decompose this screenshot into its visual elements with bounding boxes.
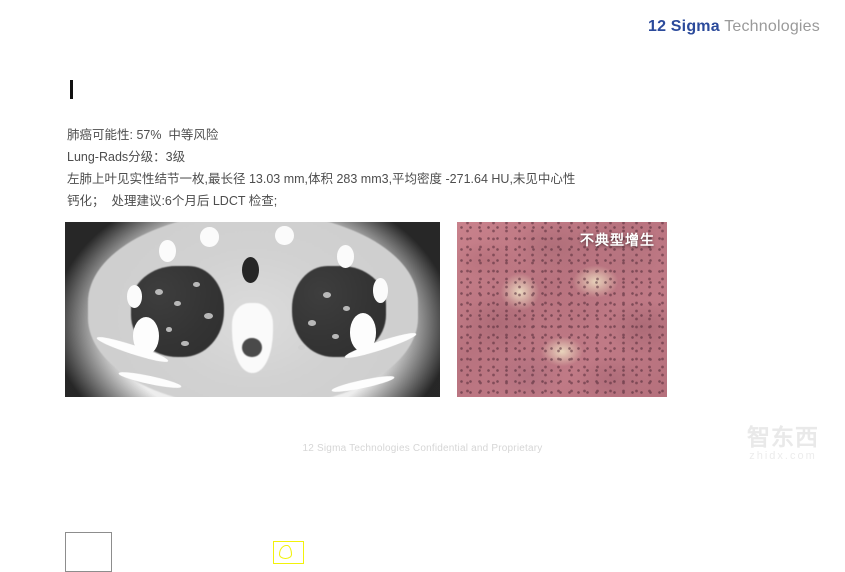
brand-suffix: Technologies [724,18,820,35]
title-marker [70,80,73,99]
report-line-findings: 左肺上叶见实性结节一枚,最长径 13.03 mm,体积 283 mm3,平均密度… [67,168,627,190]
ct-canvas [65,222,440,397]
ct-reference-box[interactable] [65,532,112,572]
ct-scan-image[interactable] [65,222,440,397]
ct-bone-clavicle-left [159,240,176,263]
report-line-cancer-probability: 肺癌可能性: 57% 中等风险 [67,124,627,146]
ct-vessel [166,327,172,332]
ct-vessel [193,282,201,288]
ct-bone-sternum-right [275,226,294,245]
brand-name: 12 Sigma [648,18,720,35]
report-line-recommendation: 钙化； 处理建议:6个月后 LDCT 检查; [67,190,627,212]
report-text-block: 肺癌可能性: 57% 中等风险 Lung-Rads分级：3级 左肺上叶见实性结节… [67,124,627,212]
footer-confidentiality-notice: 12 Sigma Technologies Confidential and P… [0,443,845,454]
ct-bone-sternum-left [200,227,219,246]
ct-bone-scapula-right [373,278,388,303]
brand-logo: 12 Sigma Technologies [648,18,820,36]
report-line-lung-rads: Lung-Rads分级：3级 [67,146,627,168]
watermark: 智东西 zhidx.com [733,425,833,463]
ct-rib-lateral-left [133,317,159,356]
ct-spinal-canal [242,338,261,357]
ct-vessel [298,345,306,350]
ct-vessel [332,334,338,339]
watermark-cn-text: 智东西 [733,425,833,450]
pathology-slide-image[interactable]: 不典型增生 [457,222,667,397]
watermark-url-text: zhidx.com [733,450,833,463]
ct-nodule-contour [279,545,292,559]
ct-vessel [174,301,181,306]
ct-vessel [155,289,163,295]
pathology-diagnosis-label: 不典型增生 [580,230,655,250]
ct-rib-lateral-right [350,313,376,352]
ct-bone-scapula-left [127,285,142,308]
ct-vessel [181,341,189,346]
ct-vessel [308,320,316,326]
ct-bone-clavicle-right [337,245,354,268]
